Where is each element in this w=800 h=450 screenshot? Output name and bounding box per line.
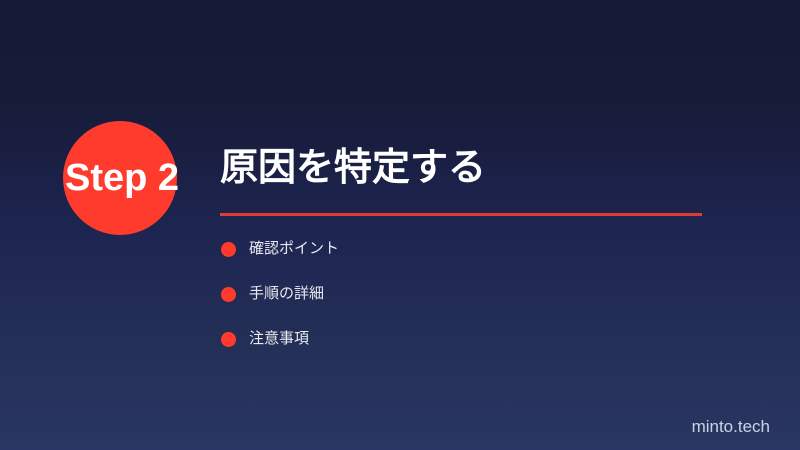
list-item-label: 注意事項 bbox=[249, 331, 309, 347]
step-badge: Step 2 bbox=[63, 121, 177, 235]
bullet-list: 確認ポイント 手順の詳細 注意事項 bbox=[221, 241, 339, 347]
slide-canvas: Step 2 原因を特定する 確認ポイント 手順の詳細 注意事項 minto.t… bbox=[0, 0, 800, 450]
page-title: 原因を特定する bbox=[220, 143, 720, 193]
bullet-dot-icon bbox=[221, 242, 236, 257]
bullet-dot-icon bbox=[221, 332, 236, 347]
title-divider bbox=[220, 213, 702, 216]
footer-brand: minto.tech bbox=[692, 416, 770, 438]
bullet-dot-icon bbox=[221, 287, 236, 302]
list-item-label: 手順の詳細 bbox=[249, 286, 324, 302]
title-block: 原因を特定する bbox=[220, 143, 720, 193]
list-item: 注意事項 bbox=[221, 331, 339, 347]
step-badge-label: Step 2 bbox=[46, 155, 198, 201]
list-item: 確認ポイント bbox=[221, 241, 339, 257]
list-item-label: 確認ポイント bbox=[249, 241, 339, 257]
list-item: 手順の詳細 bbox=[221, 286, 339, 302]
